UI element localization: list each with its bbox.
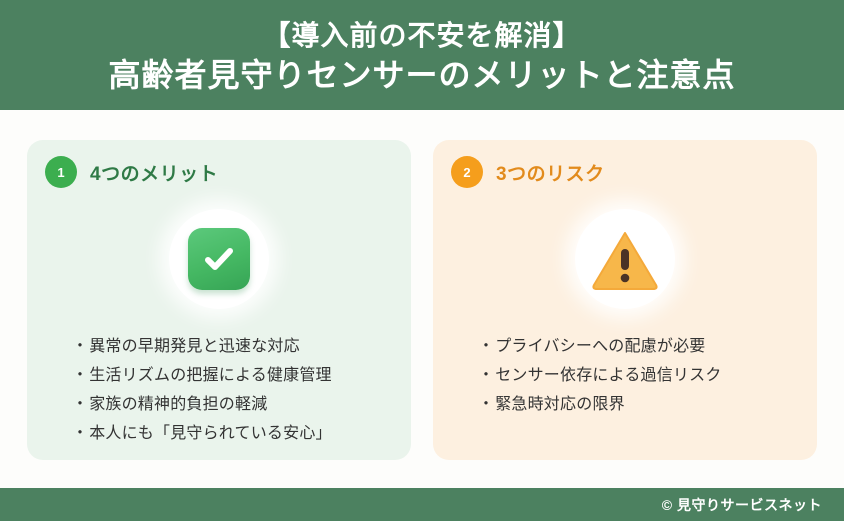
- header-banner: 【導入前の不安を解消】 高齢者見守りセンサーのメリットと注意点: [0, 0, 844, 110]
- check-mark-icon: [188, 228, 250, 290]
- list-item: ・プライバシーへの配慮が必要: [478, 332, 799, 361]
- card-risks-list: ・プライバシーへの配慮が必要 ・センサー依存による過信リスク ・緊急時対応の限界: [478, 332, 799, 419]
- card-risks-icon-medallion: [575, 209, 675, 309]
- card-risks-badge: 2: [451, 156, 483, 188]
- list-item: ・異常の早期発見と迅速な対応: [72, 332, 393, 361]
- card-merits-title: 4つのメリット: [90, 159, 218, 186]
- list-bullet: ・: [72, 390, 88, 419]
- list-item-text: センサー依存による過信リスク: [495, 367, 721, 384]
- card-risks-title: 3つのリスク: [496, 159, 605, 186]
- list-bullet: ・: [478, 390, 494, 419]
- list-item-text: 本人にも「見守られている安心」: [89, 425, 332, 442]
- list-item-text: 家族の精神的負担の軽減: [89, 396, 267, 413]
- card-merits-icon-medallion: [169, 209, 269, 309]
- list-bullet: ・: [72, 361, 88, 390]
- list-item-text: 緊急時対応の限界: [495, 396, 625, 413]
- list-item: ・本人にも「見守られている安心」: [72, 419, 393, 448]
- card-merits: 1 4つのメリット ・異常の早期発見と迅速な対応 ・生活リズムの把握による健康管…: [27, 140, 411, 460]
- list-item: ・生活リズムの把握による健康管理: [72, 361, 393, 390]
- list-item: ・センサー依存による過信リスク: [478, 361, 799, 390]
- list-bullet: ・: [72, 332, 88, 361]
- card-merits-list: ・異常の早期発見と迅速な対応 ・生活リズムの把握による健康管理 ・家族の精神的負…: [72, 332, 393, 448]
- card-risks-header: 2 3つのリスク: [451, 156, 605, 188]
- warning-triangle-icon: [590, 227, 660, 291]
- list-item-text: プライバシーへの配慮が必要: [495, 338, 705, 355]
- list-item-text: 異常の早期発見と迅速な対応: [89, 338, 300, 355]
- header-title-line1: 【導入前の不安を解消】: [262, 18, 581, 54]
- cards-container: 1 4つのメリット ・異常の早期発見と迅速な対応 ・生活リズムの把握による健康管…: [0, 110, 844, 488]
- card-merits-badge: 1: [45, 156, 77, 188]
- list-item: ・緊急時対応の限界: [478, 390, 799, 419]
- infographic-slide: 【導入前の不安を解消】 高齢者見守りセンサーのメリットと注意点 1 4つのメリッ…: [0, 0, 844, 521]
- list-item-text: 生活リズムの把握による健康管理: [89, 367, 332, 384]
- footer-banner: © 見守りサービスネット: [0, 488, 844, 521]
- header-title-line2: 高齢者見守りセンサーのメリットと注意点: [108, 54, 735, 96]
- list-bullet: ・: [478, 332, 494, 361]
- list-bullet: ・: [478, 361, 494, 390]
- list-bullet: ・: [72, 419, 88, 448]
- card-risks: 2 3つのリスク ・プライバシーへの配慮が必要 ・センサー依存による過信リスク …: [433, 140, 817, 460]
- card-merits-header: 1 4つのメリット: [45, 156, 218, 188]
- footer-copyright: © 見守りサービスネット: [662, 495, 822, 515]
- list-item: ・家族の精神的負担の軽減: [72, 390, 393, 419]
